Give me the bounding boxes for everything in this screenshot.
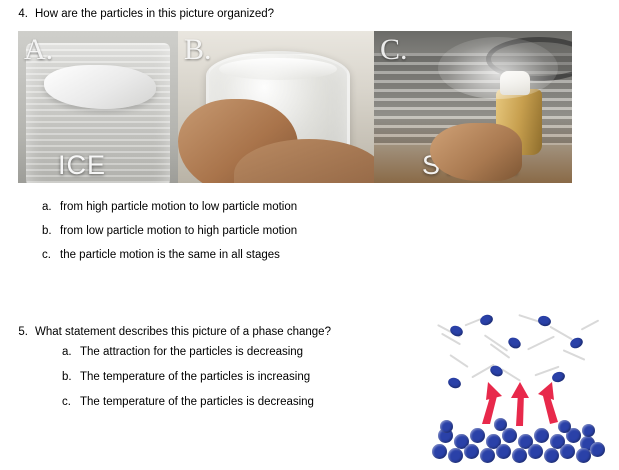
phase-states-image-strip: A. ICE B. WATER C. STEAM [18,31,572,183]
answer-option[interactable]: a. The attraction for the particles is d… [62,345,442,359]
liquid-particle [576,448,591,463]
liquid-particle [502,428,517,443]
question-5-number: 5. [6,325,35,339]
liquid-particle [582,424,595,437]
liquid-particle [494,418,507,431]
liquid-particle [470,428,485,443]
answer-text: from high particle motion to low particl… [60,200,562,214]
steam-cloud-shape [438,37,558,99]
liquid-particle [512,448,527,463]
panel-label-c: C. [380,33,408,67]
liquid-particle [480,448,495,463]
answer-option[interactable]: c. the particle motion is the same in al… [42,248,562,262]
panel-label-b: B. [184,33,212,67]
liquid-particle [496,444,511,459]
liquid-particle [544,448,559,463]
question-4-number: 4. [6,7,35,21]
panel-caption-ice: ICE [58,150,106,181]
liquid-particle [590,442,605,457]
answer-letter: b. [42,224,60,238]
liquid-particle [440,420,453,433]
answer-text: from low particle motion to high particl… [60,224,562,238]
question-5-answers: a. The attraction for the particles is d… [62,345,442,420]
phase-change-diagram [430,312,606,464]
question-4-text: How are the particles in this picture or… [35,7,606,21]
liquid-particle [432,444,447,459]
panel-ice: A. ICE [18,31,178,183]
liquid-particle [448,448,463,463]
question-5-text: What statement describes this picture of… [35,325,446,339]
answer-letter: c. [42,248,60,262]
answer-option[interactable]: b. from low particle motion to high part… [42,224,562,238]
answer-option[interactable]: a. from high particle motion to low part… [42,200,562,214]
panel-label-a: A. [24,33,53,67]
answer-option[interactable]: b. The temperature of the particles is i… [62,370,442,384]
hand-shape-steam [430,123,522,181]
worksheet-page: 4. How are the particles in this picture… [0,0,619,470]
answer-text: The temperature of the particles is decr… [80,395,442,409]
liquid-particle [558,420,571,433]
question-4-line: 4. How are the particles in this picture… [6,7,606,21]
answer-option[interactable]: c. The temperature of the particles is d… [62,395,442,409]
answer-text: The attraction for the particles is decr… [80,345,442,359]
answer-letter: c. [62,395,80,409]
question-4-answers: a. from high particle motion to low part… [42,200,562,272]
answer-letter: b. [62,370,80,384]
answer-letter: a. [62,345,80,359]
liquid-particle [560,444,575,459]
liquid-particle [464,444,479,459]
answer-letter: a. [42,200,60,214]
liquid-particle [534,428,549,443]
answer-text: the particle motion is the same in all s… [60,248,562,262]
panel-steam: C. STEAM [374,31,572,183]
answer-text: The temperature of the particles is incr… [80,370,442,384]
liquid-particle [528,444,543,459]
question-5-line: 5. What statement describes this picture… [6,325,446,339]
panel-water: B. WATER [178,31,374,183]
